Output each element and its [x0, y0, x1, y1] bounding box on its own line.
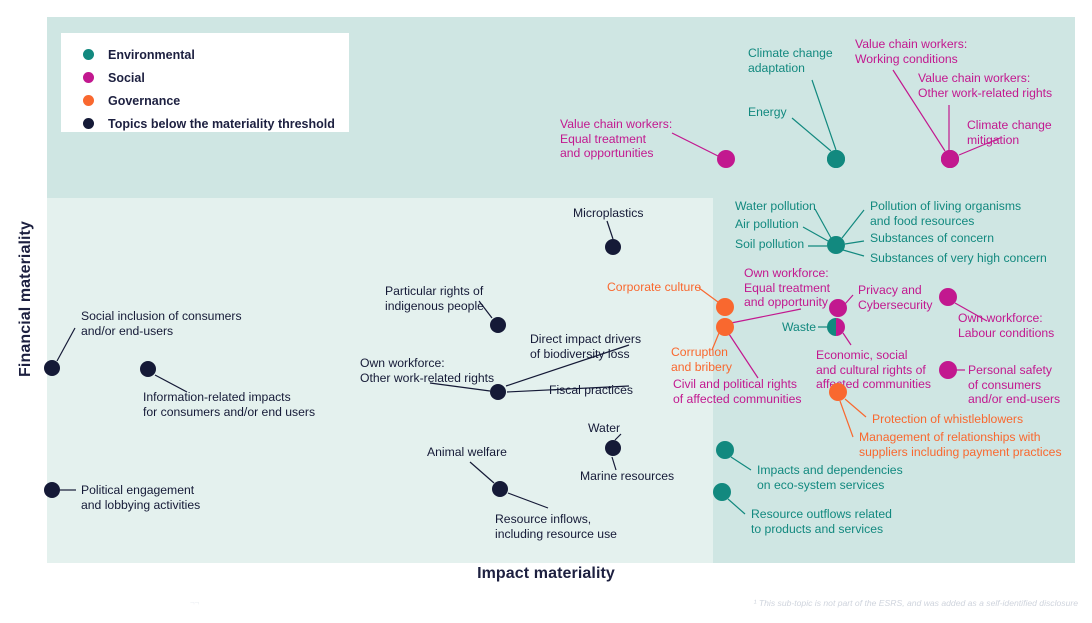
point-label-corporate-culture: Corporate culture: [607, 280, 701, 295]
legend-label-environmental: Environmental: [108, 48, 195, 62]
data-point-half-left: [827, 318, 836, 336]
data-point-energy[interactable]: [827, 150, 845, 168]
point-label-water-pollution: Water pollution: [735, 199, 816, 214]
footnote: ¹ This sub-topic is not part of the ESRS…: [754, 598, 1078, 608]
legend-item-governance: Governance: [83, 90, 349, 111]
point-label-water: Water: [588, 421, 620, 436]
point-label-information-related-impacts: Information-related impacts for consumer…: [143, 390, 315, 419]
legend-label-social: Social: [108, 71, 145, 85]
point-label-political-engagement-lobbying: Political engagement and lobbying activi…: [81, 483, 200, 512]
data-point-pollution-cluster[interactable]: [827, 236, 845, 254]
data-point-value-chain-equal-treatment[interactable]: [717, 150, 735, 168]
point-label-own-workforce-labour-conditions: Own workforce: Labour conditions: [958, 311, 1054, 340]
legend-label-below-threshold: Topics below the materiality threshold: [108, 117, 335, 131]
point-label-civil-political-rights: Civil and political rights of affected c…: [673, 377, 802, 406]
data-point-privacy-and-cybersecurity[interactable]: [829, 299, 847, 317]
point-label-air-pollution: Air pollution: [735, 217, 799, 232]
point-label-substances-very-high-concern: Substances of very high concern: [870, 251, 1047, 266]
point-label-impacts-dependencies-ecosystem: Impacts and dependencies on eco-system s…: [757, 463, 903, 492]
point-label-value-chain-working-conditions: Value chain workers: Working conditions: [855, 37, 967, 66]
y-axis-title: Financial materiality: [17, 189, 35, 409]
point-label-marine-resources: Marine resources: [580, 469, 674, 484]
point-label-value-chain-other-work-related-rights: Value chain workers: Other work-related …: [918, 71, 1052, 100]
point-label-own-workforce-equal-treatment: Own workforce: Equal treatment and oppor…: [744, 266, 830, 310]
data-point-corporate-culture[interactable]: [716, 298, 734, 316]
legend-dot-below-threshold: [83, 118, 94, 129]
x-axis-title: Impact materiality: [0, 565, 1092, 583]
legend-label-governance: Governance: [108, 94, 180, 108]
point-label-soil-pollution: Soil pollution: [735, 237, 804, 252]
legend-dot-environmental: [83, 49, 94, 60]
data-point-resource-outflows[interactable]: [713, 483, 731, 501]
point-label-resource-outflows: Resource outflows related to products an…: [751, 507, 892, 536]
materiality-matrix-chart: Value chain workers: Equal treatment and…: [0, 0, 1092, 623]
corner-mark: ¬¬: [190, 598, 199, 607]
data-point-waste[interactable]: [827, 318, 845, 336]
legend-item-below-threshold: Topics below the materiality threshold: [83, 113, 349, 134]
data-point-value-chain-other-work-related-rights[interactable]: [941, 150, 959, 168]
data-point-protection-of-whistleblowers[interactable]: [829, 383, 847, 401]
legend-item-environmental: Environmental: [83, 44, 349, 65]
point-label-corruption-and-bribery: Corruption and bribery: [671, 345, 732, 374]
point-label-privacy-and-cybersecurity: Privacy and Cybersecurity: [858, 283, 933, 312]
data-point-information-related-impacts[interactable]: [140, 361, 156, 377]
data-point-personal-safety-consumers[interactable]: [939, 361, 957, 379]
point-label-microplastics: Microplastics: [573, 206, 643, 221]
data-point-particular-rights-indigenous-people[interactable]: [490, 317, 506, 333]
point-label-particular-rights-indigenous-people: Particular rights of indigenous people: [385, 284, 484, 313]
legend-item-social: Social: [83, 67, 349, 88]
point-label-animal-welfare: Animal welfare: [427, 445, 507, 460]
data-point-water[interactable]: [605, 440, 621, 456]
data-point-microplastics[interactable]: [605, 239, 621, 255]
point-label-personal-safety-consumers: Personal safety of consumers and/or end-…: [968, 363, 1060, 407]
data-point-own-workforce-labour-conditions[interactable]: [939, 288, 957, 306]
legend-dot-governance: [83, 95, 94, 106]
point-label-climate-change-adaptation: Climate change adaptation: [748, 46, 833, 75]
data-point-animal-welfare[interactable]: [492, 481, 508, 497]
data-point-half-right: [836, 318, 845, 336]
point-label-social-inclusion-consumers: Social inclusion of consumers and/or end…: [81, 309, 242, 338]
point-label-value-chain-equal-treatment: Value chain workers: Equal treatment and…: [560, 117, 672, 161]
point-label-direct-impact-drivers-biodiversity: Direct impact drivers of biodiversity lo…: [530, 332, 641, 361]
data-point-social-inclusion-consumers[interactable]: [44, 360, 60, 376]
legend: Environmental Social Governance Topics b…: [61, 33, 349, 132]
point-label-management-supplier-relationships: Management of relationships with supplie…: [859, 430, 1062, 459]
point-label-pollution-living-organisms: Pollution of living organisms and food r…: [870, 199, 1021, 228]
point-label-climate-change-mitigation: Climate change mitigation: [967, 118, 1052, 147]
point-label-protection-of-whistleblowers: Protection of whistleblowers: [872, 412, 1023, 427]
data-point-corruption-and-bribery[interactable]: [716, 318, 734, 336]
point-label-resource-inflows: Resource inflows, including resource use: [495, 512, 617, 541]
point-label-waste: Waste: [782, 320, 816, 335]
point-label-fiscal-practices: Fiscal practices: [549, 383, 633, 398]
legend-dot-social: [83, 72, 94, 83]
data-point-impacts-dependencies-ecosystem[interactable]: [716, 441, 734, 459]
point-label-substances-of-concern: Substances of concern: [870, 231, 994, 246]
data-point-own-workforce-other-work-related-rights[interactable]: [490, 384, 506, 400]
data-point-political-engagement-lobbying[interactable]: [44, 482, 60, 498]
point-label-energy: Energy: [748, 105, 787, 120]
point-label-own-workforce-other-work-related-rights: Own workforce: Other work-related rights: [360, 356, 494, 385]
